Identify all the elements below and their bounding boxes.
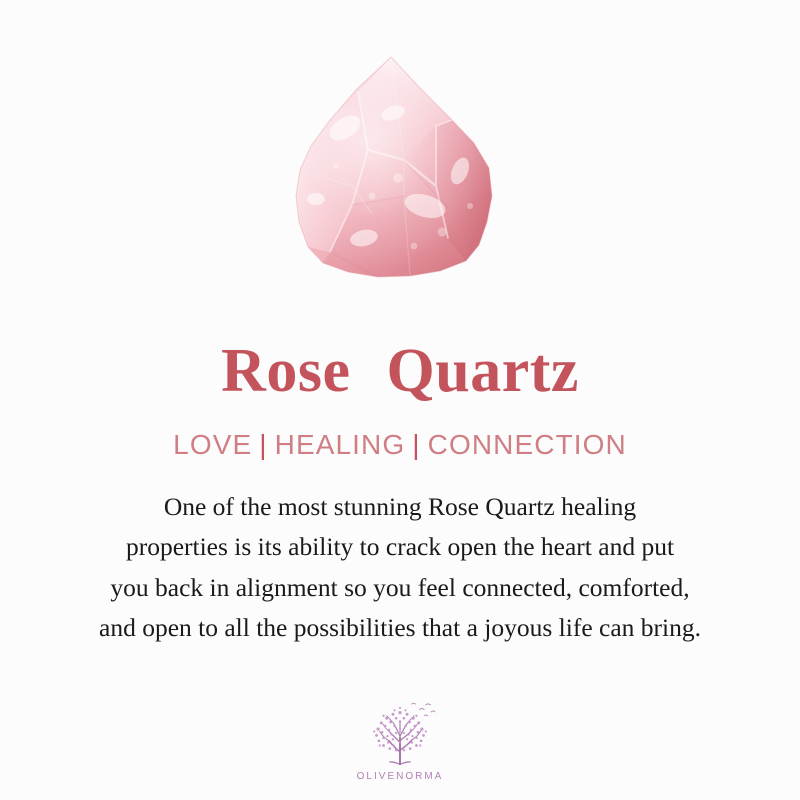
description-line-3: you back in alignment so you feel connec…: [30, 568, 770, 608]
brand-footer: OLIVENORMA: [0, 697, 800, 782]
keyword-connection: CONNECTION: [428, 429, 627, 460]
description-line-2: properties is its ability to crack open …: [30, 527, 770, 567]
brand-name: OLIVENORMA: [357, 771, 444, 782]
rose-quartz-info-card: Rose Quartz LOVE|HEALING|CONNECTION One …: [0, 0, 800, 800]
birds-icon: [412, 703, 435, 716]
keyword-healing: HEALING: [275, 429, 406, 460]
rose-quartz-crystal-image: [0, 0, 800, 300]
description-line-1: One of the most stunning Rose Quartz hea…: [30, 487, 770, 527]
tree-of-life-icon: [357, 697, 443, 769]
keyword-love: LOVE: [173, 429, 252, 460]
keyword-tagline: LOVE|HEALING|CONNECTION: [173, 429, 627, 461]
crystal-image-container: [0, 0, 800, 300]
keyword-separator-2: |: [405, 429, 427, 460]
keyword-separator-1: |: [252, 429, 274, 460]
description-line-4: and open to all the possibilities that a…: [30, 608, 770, 648]
page-title: Rose Quartz: [221, 338, 579, 405]
description-paragraph: One of the most stunning Rose Quartz hea…: [30, 487, 770, 648]
